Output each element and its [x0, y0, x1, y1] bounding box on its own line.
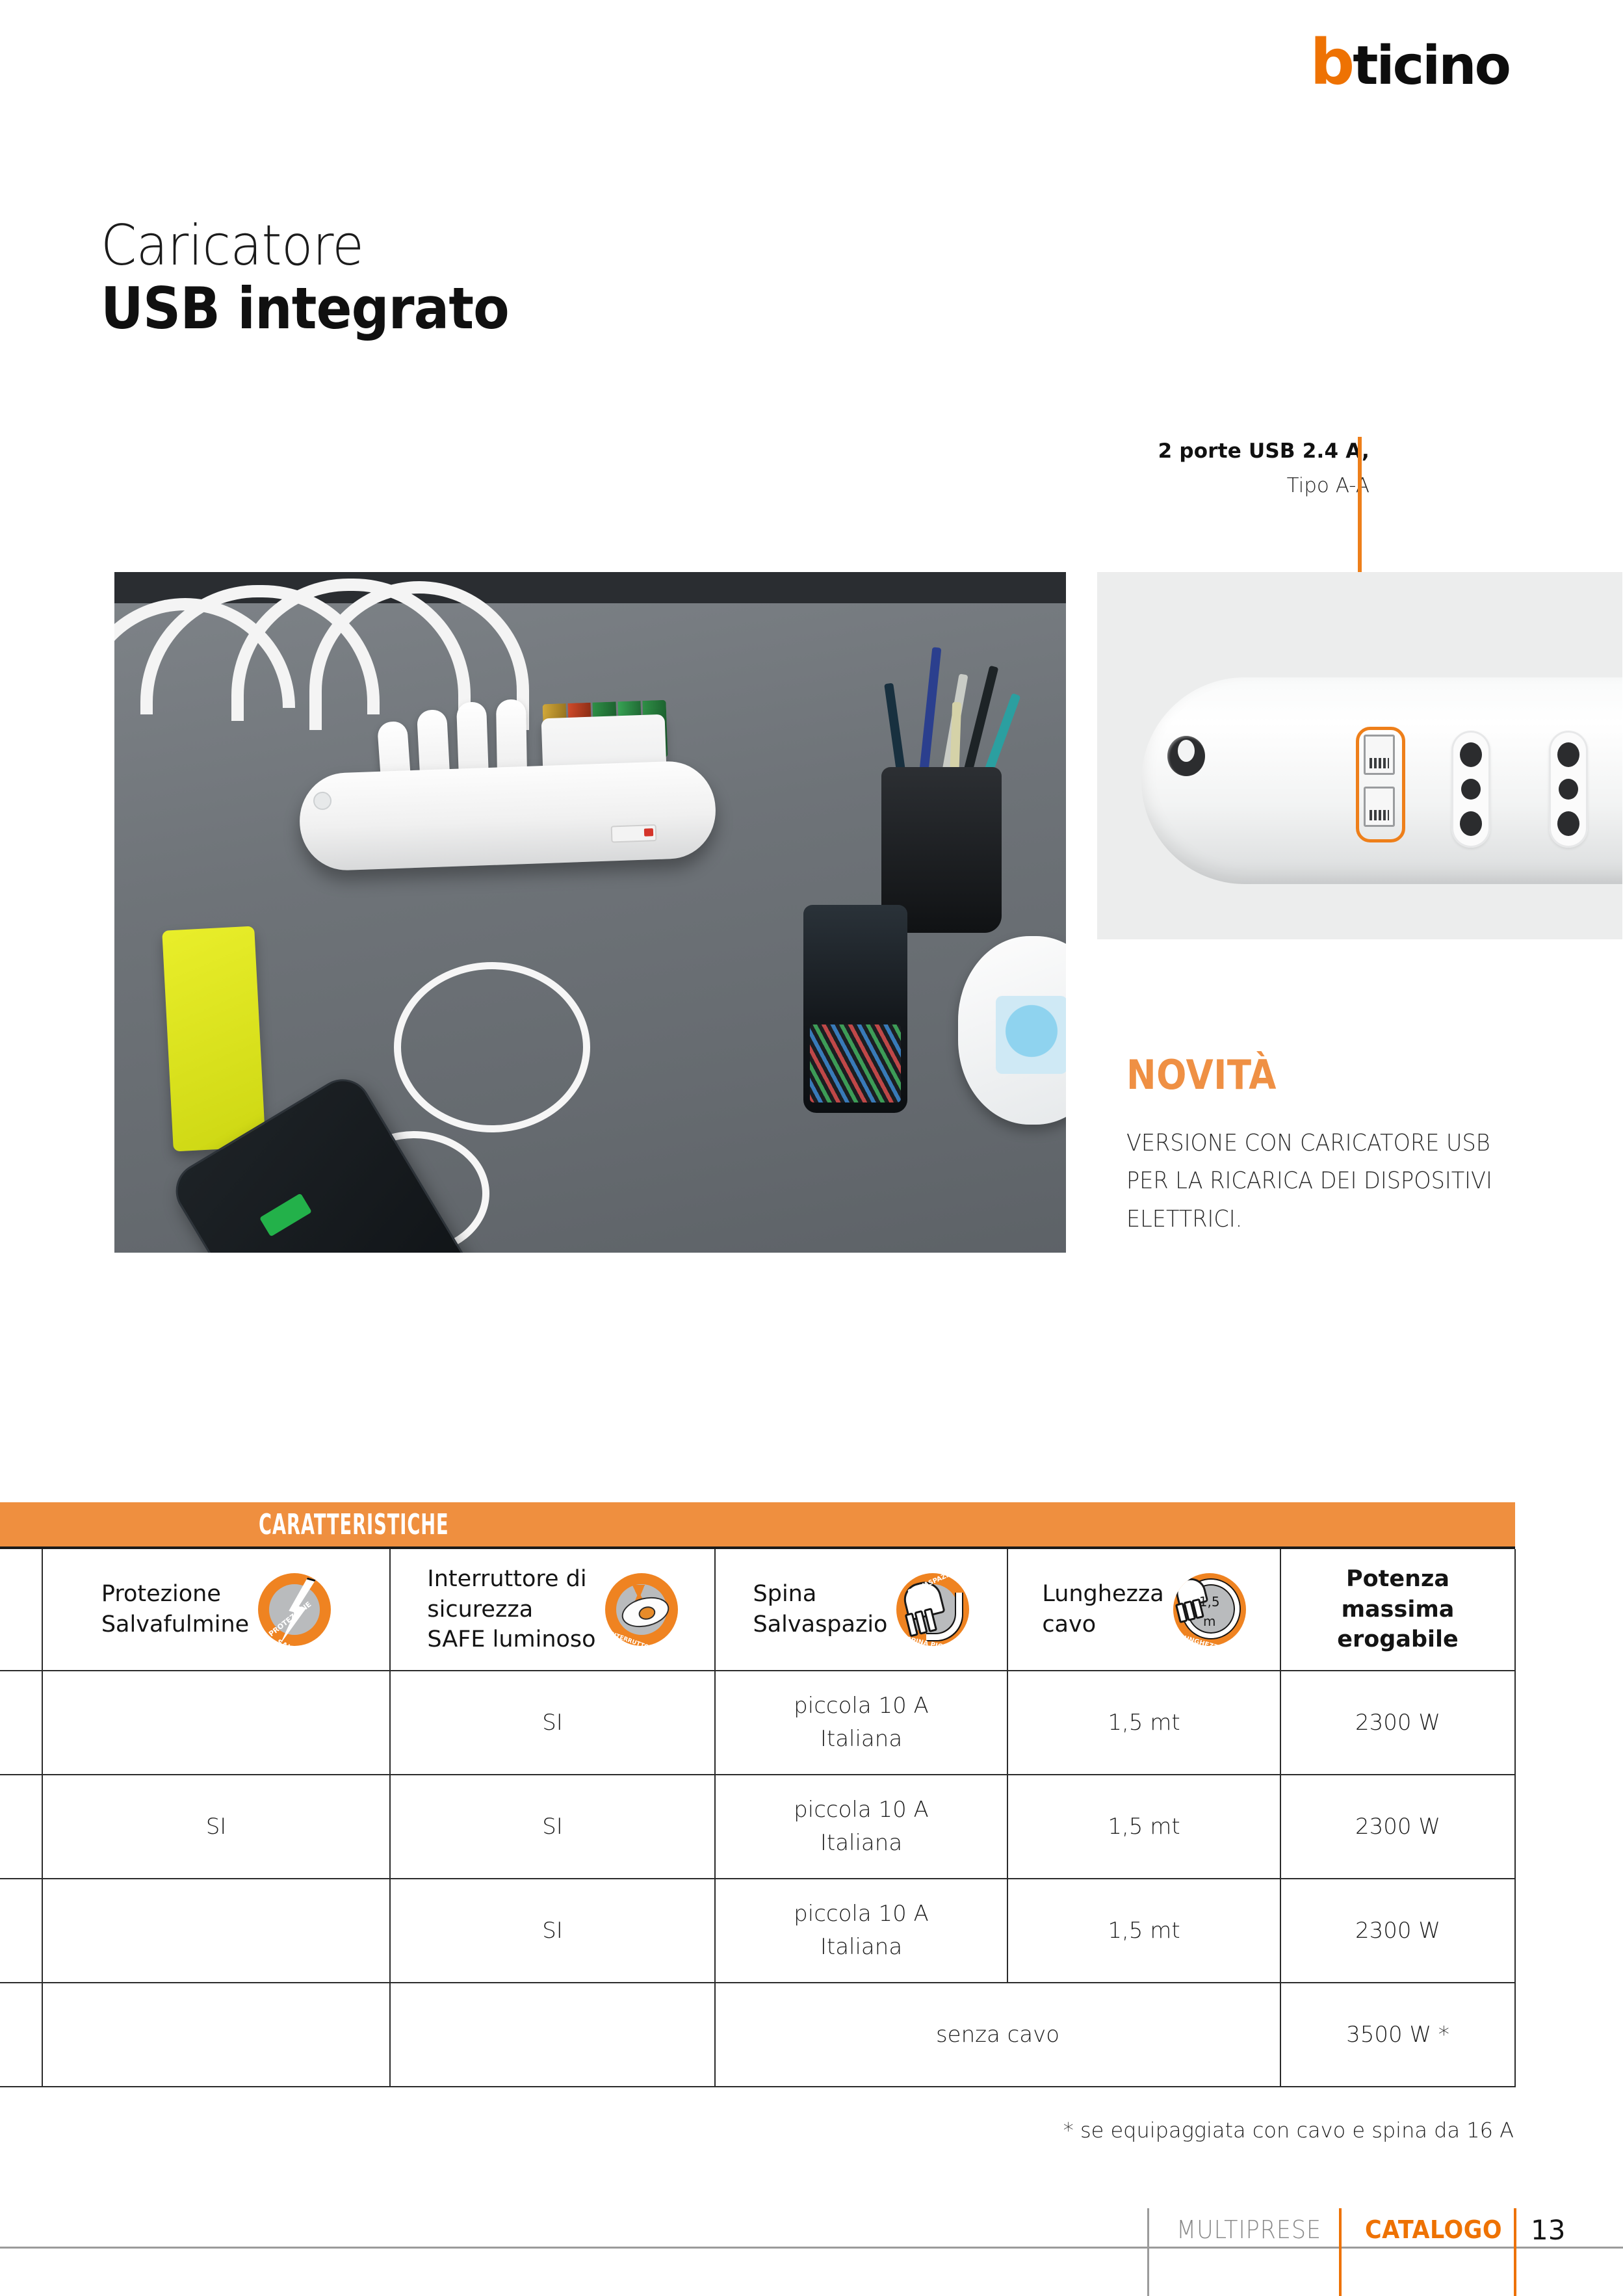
- badge-ring-bottom: INTERRUTTORE LUMINOSO: [607, 1630, 677, 1646]
- cell-spina: piccola 10 A Italiana: [715, 1671, 1007, 1775]
- cell-potenza: 2300 W: [1280, 1671, 1515, 1775]
- badge-ring-bottom: SALVAFULMINE: [275, 1637, 331, 1646]
- cell-interruttore: [390, 1983, 715, 2087]
- specifications-table: CARATTERISTICHE Protezione Salvafulmine: [0, 1502, 1515, 2087]
- page-title: Caricatore USB integrato: [101, 216, 544, 339]
- socket-pin-middle: [1559, 779, 1578, 800]
- power-strip-led: [313, 791, 332, 810]
- socket-pin-top: [1557, 742, 1579, 767]
- pen-2: [884, 683, 907, 780]
- footer-separator-orange-1: [1339, 2208, 1342, 2296]
- cell-interruttore: SI: [390, 1671, 715, 1775]
- bticino-logo: bticino: [1310, 36, 1509, 93]
- header-label-lunghezza: Lunghezza cavo: [1042, 1579, 1163, 1640]
- caratteristiche-label: CARATTERISTICHE: [259, 1508, 449, 1541]
- header-label-spina: Spina Salvaspazio: [753, 1579, 888, 1640]
- cable-loop-large: [394, 962, 590, 1132]
- caratteristiche-banner: CARATTERISTICHE: [0, 1502, 1515, 1549]
- socket-pin-middle: [1461, 779, 1481, 800]
- novita-heading: NOVITÀ: [1126, 1051, 1481, 1099]
- socket-pin-top: [1460, 742, 1482, 767]
- page-title-line2: USB integrato: [101, 278, 509, 339]
- badge-ring-top: SALVASPAZIO: [907, 1573, 955, 1597]
- product-lifestyle-photo: [114, 572, 1066, 1253]
- header-spina-salvaspazio: Spina Salvaspazio SALVASPAZIO SPINA PICC…: [715, 1549, 1007, 1671]
- cell-lunghezza: 1,5 mt: [1007, 1671, 1280, 1775]
- row-spacer-cell: [0, 1983, 42, 2087]
- cell-potenza: 2300 W: [1280, 1879, 1515, 1983]
- table-row: SI SI piccola 10 A Italiana 1,5 mt 2300 …: [0, 1775, 1515, 1879]
- protezione-salvafulmine-badge: PROTEZIONE SALVAFULMINE: [258, 1573, 331, 1646]
- novita-description: VERSIONE CON CARICATORE USB PER LA RICAR…: [1126, 1125, 1501, 1238]
- cell-potenza: 3500 W *: [1280, 1983, 1515, 2087]
- row-spacer-cell: [0, 1775, 42, 1879]
- cell-senza-cavo: senza cavo: [715, 1983, 1280, 2087]
- header-lunghezza-cavo: Lunghezza cavo 1,5 m LUNGHEZZA CAVO: [1007, 1549, 1280, 1671]
- socket-pin-bottom: [1460, 811, 1482, 836]
- header-label-protezione: Protezione Salvafulmine: [101, 1579, 249, 1640]
- footer-separator-gray: [1147, 2208, 1149, 2296]
- yellow-power-bank: [162, 926, 266, 1152]
- cell-protezione: [42, 1671, 390, 1775]
- cell-interruttore: SI: [390, 1775, 715, 1879]
- table-header-row: Protezione Salvafulmine PROTEZIONE SALVA…: [0, 1549, 1515, 1671]
- table-row: SI piccola 10 A Italiana 1,5 mt 2300 W: [0, 1671, 1515, 1775]
- row-spacer-cell: [0, 1879, 42, 1983]
- usb-callout: 2 porte USB 2.4 A, Tipo A-A: [1158, 437, 1370, 501]
- table-row: SI piccola 10 A Italiana 1,5 mt 2300 W: [0, 1879, 1515, 1983]
- table-footnote: * se equipaggiata con cavo e spina da 16…: [1063, 2118, 1514, 2143]
- hanging-hole: [1167, 736, 1205, 776]
- page-number: 13: [1531, 2214, 1565, 2246]
- pen-1: [918, 647, 941, 780]
- pens-group: [878, 618, 1008, 780]
- header-interruttore-sicurezza: Interruttore di sicurezza SAFE luminoso …: [390, 1549, 715, 1671]
- row-spacer-cell: [0, 1671, 42, 1775]
- logo-wordmark: ticino: [1353, 40, 1509, 93]
- header-label-potenza: Potenza massima erogabile: [1337, 1564, 1459, 1656]
- italian-socket-1: [1451, 731, 1490, 848]
- cell-protezione: SI: [42, 1775, 390, 1879]
- footer-catalog-label: CATALOGO: [1365, 2215, 1502, 2244]
- badge-ring-top: PROTEZIONE: [267, 1600, 314, 1640]
- specs-grid: Protezione Salvafulmine PROTEZIONE SALVA…: [0, 1549, 1516, 2087]
- paperclips: [810, 1024, 901, 1102]
- interruttore-luminoso-badge: INTERRUTTORE LUMINOSO: [605, 1573, 678, 1646]
- usb-port-bottom: [1364, 787, 1395, 827]
- header-protezione-salvafulmine: Protezione Salvafulmine PROTEZIONE SALVA…: [42, 1549, 390, 1671]
- lunghezza-cavo-badge: 1,5 m LUNGHEZZA CAVO: [1173, 1573, 1246, 1646]
- cell-protezione: [42, 1879, 390, 1983]
- cell-spina: piccola 10 A Italiana: [715, 1879, 1007, 1983]
- header-spacer-cell: [0, 1549, 42, 1671]
- paperclip-jar: [803, 905, 907, 1113]
- logo-b-mark: b: [1310, 36, 1353, 90]
- header-potenza-massima: Potenza massima erogabile: [1280, 1549, 1515, 1671]
- salvaspazio-spina-piccola-badge: SALVASPAZIO SPINA PICCOLA: [896, 1573, 969, 1646]
- phone-battery-indicator: [259, 1193, 312, 1236]
- usb-port-top: [1364, 735, 1395, 775]
- cell-protezione: [42, 1983, 390, 2087]
- cell-lunghezza: 1,5 mt: [1007, 1775, 1280, 1879]
- badge-ring-bottom: LUNGHEZZA CAVO: [1178, 1632, 1245, 1646]
- cell-lunghezza: 1,5 mt: [1007, 1879, 1280, 1983]
- usb-callout-bold: 2 porte USB 2.4 A,: [1158, 437, 1370, 466]
- footer-rule: [0, 2247, 1623, 2249]
- header-label-interruttore: Interruttore di sicurezza SAFE luminoso: [427, 1564, 595, 1656]
- footer-separator-orange-2: [1514, 2208, 1516, 2296]
- page-footer: MULTIPRESE CATALOGO 13: [0, 2206, 1623, 2296]
- cell-spina: piccola 10 A Italiana: [715, 1775, 1007, 1879]
- novita-block: NOVITÀ VERSIONE CON CARICATORE USB PER L…: [1126, 1051, 1529, 1238]
- power-strip-switch: [611, 824, 657, 842]
- page-title-line1: Caricatore: [101, 216, 509, 276]
- italian-socket-2: [1549, 731, 1588, 848]
- badge-ring-bottom: SPINA PICCOLA: [905, 1635, 962, 1646]
- footer-section-label: MULTIPRESE: [1176, 2215, 1321, 2244]
- usb-callout-light: Tipo A-A: [1158, 471, 1370, 501]
- cell-potenza: 2300 W: [1280, 1775, 1515, 1879]
- usb-detail-photo: [1097, 572, 1622, 939]
- cell-interruttore: SI: [390, 1879, 715, 1983]
- socket-pin-bottom: [1557, 811, 1579, 836]
- power-strip: [298, 760, 718, 872]
- table-row: senza cavo 3500 W *: [0, 1983, 1515, 2087]
